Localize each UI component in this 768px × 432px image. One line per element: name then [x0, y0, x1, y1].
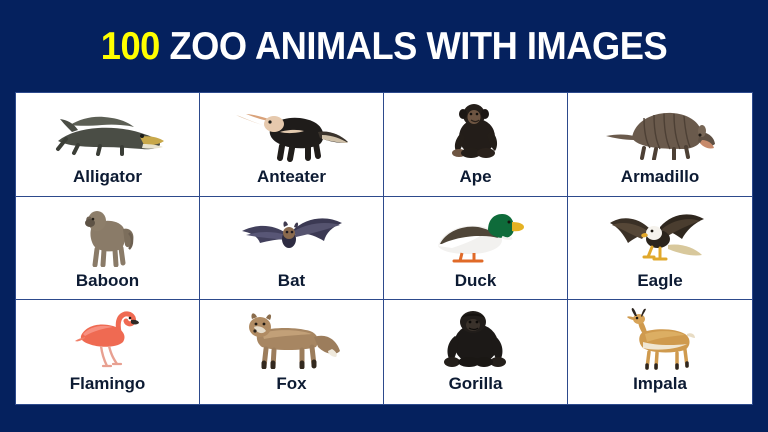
cell-label: Duck: [455, 271, 497, 291]
armadillo-icon: [568, 99, 752, 165]
ape-icon: [384, 99, 567, 165]
grid-cell-eagle[interactable]: Eagle: [568, 197, 752, 301]
flamingo-icon: [16, 306, 199, 372]
grid-cell-ape[interactable]: Ape: [384, 93, 568, 197]
gorilla-icon: [384, 306, 567, 372]
cell-label: Ape: [459, 167, 491, 187]
anteater-icon: [200, 99, 383, 165]
poster-root: 100 ZOO ANIMALS WITH IMAGES Alligator: [0, 0, 768, 432]
animal-grid: Alligator Anteater: [15, 92, 753, 405]
fox-icon: [200, 306, 383, 372]
grid-cell-impala[interactable]: Impala: [568, 300, 752, 404]
cell-label: Eagle: [637, 271, 682, 291]
cell-label: Gorilla: [449, 374, 503, 394]
grid-cell-flamingo[interactable]: Flamingo: [16, 300, 200, 404]
grid-cell-baboon[interactable]: Baboon: [16, 197, 200, 301]
cell-label: Impala: [633, 374, 687, 394]
grid-cell-fox[interactable]: Fox: [200, 300, 384, 404]
bat-icon: [200, 203, 383, 269]
grid-cell-alligator[interactable]: Alligator: [16, 93, 200, 197]
grid-cell-duck[interactable]: Duck: [384, 197, 568, 301]
title-number: 100: [101, 25, 160, 68]
baboon-icon: [16, 203, 199, 269]
duck-icon: [384, 203, 567, 269]
impala-icon: [568, 306, 752, 372]
cell-label: Baboon: [76, 271, 139, 291]
cell-label: Fox: [276, 374, 306, 394]
eagle-icon: [568, 203, 752, 269]
page-title: 100 ZOO ANIMALS WITH IMAGES: [27, 26, 741, 68]
cell-label: Alligator: [73, 167, 142, 187]
alligator-icon: [16, 99, 199, 165]
cell-label: Flamingo: [70, 374, 146, 394]
cell-label: Anteater: [257, 167, 326, 187]
grid-cell-anteater[interactable]: Anteater: [200, 93, 384, 197]
grid-cell-bat[interactable]: Bat: [200, 197, 384, 301]
grid-cell-gorilla[interactable]: Gorilla: [384, 300, 568, 404]
cell-label: Armadillo: [621, 167, 699, 187]
grid-cell-armadillo[interactable]: Armadillo: [568, 93, 752, 197]
cell-label: Bat: [278, 271, 305, 291]
title-text: ZOO ANIMALS WITH IMAGES: [160, 25, 667, 68]
